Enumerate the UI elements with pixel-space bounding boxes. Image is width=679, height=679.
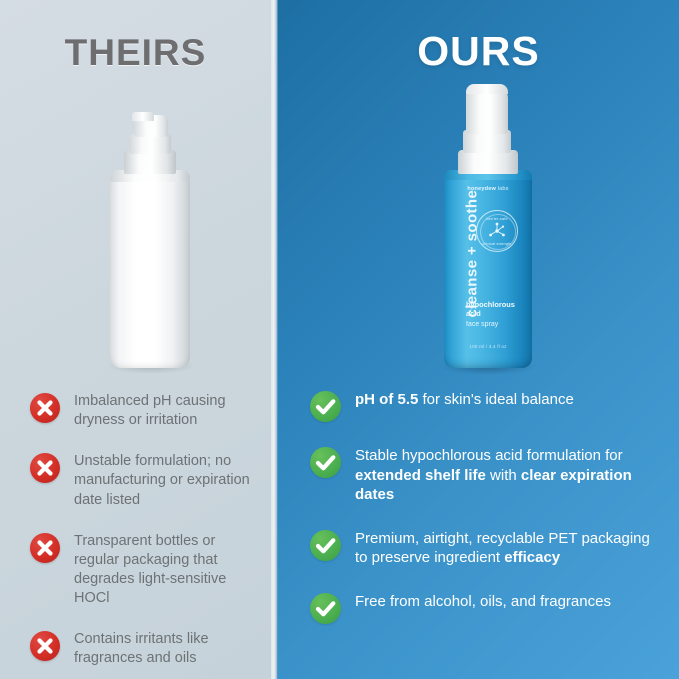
theirs-bullet-list: Imbalanced pH causing dryness or irritat…: [30, 392, 258, 679]
list-item: Imbalanced pH causing dryness or irritat…: [30, 392, 258, 430]
badge-emblem: barrier-safe: [476, 210, 518, 252]
list-item: Unstable formulation; no manufacturing o…: [30, 452, 258, 509]
list-item-text: Unstable formulation; no manufacturing o…: [74, 452, 258, 509]
list-item-text: Stable hypochlorous acid formulation for…: [355, 446, 660, 505]
brand-logo: honeydew labs: [450, 186, 526, 192]
check-circle-icon: [310, 530, 341, 561]
list-item-text: Free from alcohol, oils, and fragrances: [355, 592, 611, 612]
spray-nozzle-icon: [466, 88, 508, 134]
list-item: Contains irritants like fragrances and o…: [30, 630, 258, 668]
theirs-heading: THEIRS: [0, 34, 271, 71]
theirs-column: THEIRS Imbalanced pH causing dryness or …: [0, 0, 271, 679]
competitor-bottle-image: [104, 112, 196, 370]
list-item: Stable hypochlorous acid formulation for…: [310, 446, 660, 505]
product-volume: 100 ml / 3.4 fl oz: [444, 344, 532, 349]
ours-bullet-list: pH of 5.5 for skin's ideal balance Stabl…: [310, 390, 660, 648]
list-item-text: Contains irritants like fragrances and o…: [74, 630, 258, 668]
list-item-text: pH of 5.5 for skin's ideal balance: [355, 390, 574, 410]
x-circle-icon: [30, 393, 60, 423]
spray-tip-icon: [132, 112, 154, 121]
check-circle-icon: [310, 447, 341, 478]
brand-suffix: labs: [498, 186, 509, 192]
product-name-line2: acid: [466, 309, 481, 318]
list-item: Free from alcohol, oils, and fragrances: [310, 592, 660, 624]
x-circle-icon: [30, 453, 60, 483]
product-type: face spray: [466, 321, 530, 330]
product-description: hypochlorous acid face spray: [466, 300, 530, 330]
product-bottle-image: honeydew labs cleanse + soothe barrier-s…: [436, 82, 540, 370]
list-item-text: Transparent bottles or regular packaging…: [74, 532, 258, 609]
list-item-text: Imbalanced pH causing dryness or irritat…: [74, 392, 258, 430]
bottle-body: [110, 174, 190, 368]
x-circle-icon: [30, 631, 60, 661]
badge-bottom-text: clinical strength: [477, 242, 517, 246]
ours-heading: OURS: [278, 31, 679, 72]
check-circle-icon: [310, 593, 341, 624]
spray-tip-icon: [466, 84, 508, 94]
panel-divider: [271, 0, 278, 679]
list-item-text: Premium, airtight, recyclable PET packag…: [355, 529, 660, 568]
comparison-infographic: THEIRS Imbalanced pH causing dryness or …: [0, 0, 679, 679]
bottle-neck: [129, 134, 171, 154]
bottle-body: [444, 174, 532, 368]
check-circle-icon: [310, 391, 341, 422]
molecule-icon: [486, 220, 508, 242]
product-name-line1: hypochlorous: [466, 300, 515, 309]
x-circle-icon: [30, 533, 60, 563]
list-item: Transparent bottles or regular packaging…: [30, 532, 258, 609]
list-item: pH of 5.5 for skin's ideal balance: [310, 390, 660, 422]
list-item: Premium, airtight, recyclable PET packag…: [310, 529, 660, 568]
